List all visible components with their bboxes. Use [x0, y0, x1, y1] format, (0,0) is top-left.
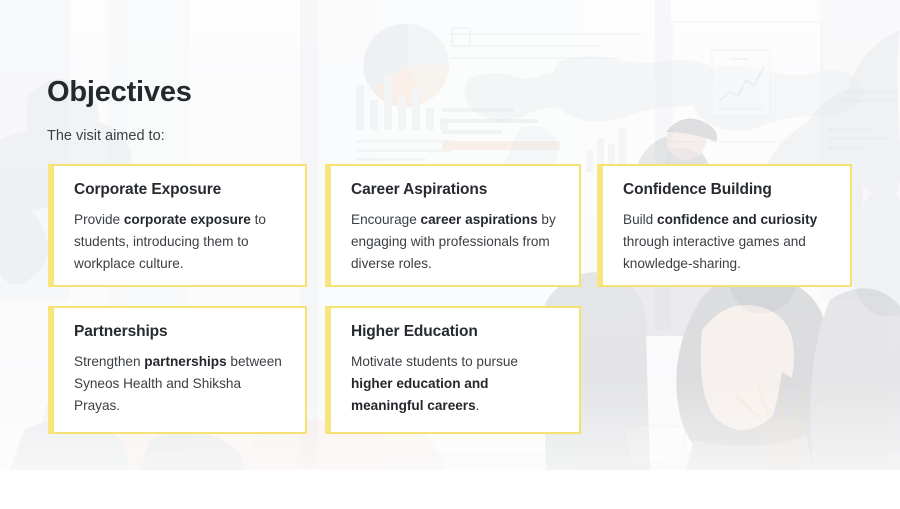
- objective-card-title: Confidence Building: [623, 180, 832, 200]
- objective-card-body: Motivate students to pursue higher educa…: [351, 351, 561, 417]
- page-subtitle: The visit aimed to:: [47, 127, 165, 146]
- slide-canvas: Objectives The visit aimed to: Corporate…: [0, 0, 900, 509]
- objective-card-title: Partnerships: [74, 322, 287, 342]
- objective-card-body: Strengthen partnerships between Syneos H…: [74, 351, 287, 417]
- objective-card-body: Build confidence and curiosity through i…: [623, 209, 832, 275]
- objective-card-confidence-building[interactable]: Confidence Building Build confidence and…: [597, 164, 852, 287]
- objective-card-title: Higher Education: [351, 322, 561, 342]
- objective-card-corporate-exposure[interactable]: Corporate Exposure Provide corporate exp…: [48, 164, 307, 287]
- objective-card-title: Corporate Exposure: [74, 180, 287, 200]
- page-title: Objectives: [47, 74, 192, 110]
- objective-card-body: Encourage career aspirations by engaging…: [351, 209, 561, 275]
- objective-card-career-aspirations[interactable]: Career Aspirations Encourage career aspi…: [325, 164, 581, 287]
- objective-card-partnerships[interactable]: Partnerships Strengthen partnerships bet…: [48, 306, 307, 434]
- objective-card-higher-education[interactable]: Higher Education Motivate students to pu…: [325, 306, 581, 434]
- objective-card-body: Provide corporate exposure to students, …: [74, 209, 287, 275]
- slide-content: Objectives The visit aimed to: Corporate…: [0, 0, 900, 509]
- objective-card-title: Career Aspirations: [351, 180, 561, 200]
